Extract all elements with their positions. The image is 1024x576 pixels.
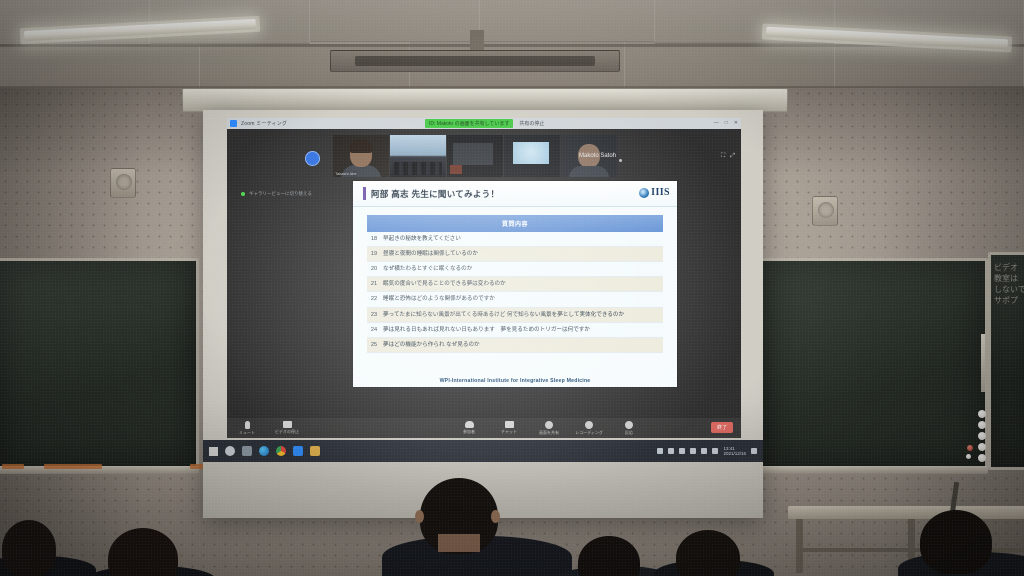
mail-icon[interactable] [712,448,718,454]
reactions-icon [625,421,633,429]
clock-date: 2021/12/16 [723,451,746,456]
board-eraser [981,334,985,392]
audience-head [2,520,56,576]
share-status-label: ID: Makoto の画面を共有しています [425,119,513,128]
zoom-window[interactable]: Zoom ミーティング — □ ✕ ID: Makoto の画面を共有しています… [227,118,741,418]
audience-neck [438,534,480,552]
view-status-label: ギャラリービューに切り替える [249,191,312,197]
table-header: 質問内容 [367,215,663,232]
zoom-logo-icon [230,120,237,127]
video-camera-icon [283,421,292,428]
title-accent-bar [363,187,366,200]
avatar [305,151,320,166]
question-table-body: 18早起きの秘訣を教えてください19昼寝と夜間の睡眠は関係しているのか20なぜ横… [367,232,663,352]
participant-tile[interactable] [504,135,560,177]
table-row: 22睡眠と恐怖はどのような関係があるのですか [367,292,663,307]
slide-title: 阿部 高志 先生に聞いてみよう！ [371,188,499,200]
toolbar-share-label: 画面を共有 [539,430,559,436]
toolbar-mute-button[interactable]: ミュート [227,421,267,436]
status-indicator-icon [241,192,245,196]
toolbar-participants-label: 参加者 [463,429,475,435]
row-question-text: 睡眠と恐怖はどのような関係があるのですか [383,292,663,307]
row-question-text: 夢はどの機能から作られ なぜ見るのか [383,337,663,352]
participant-name: Takashi Abe [335,171,357,176]
chalk-piece [44,464,102,469]
toolbar-chat-label: チャット [501,429,517,435]
participants-icon [465,421,474,428]
minimize-icon[interactable]: — [714,120,719,126]
microphone-icon [245,421,250,429]
magnet [978,454,986,462]
participant-tile[interactable]: Takashi Abe [333,135,389,177]
row-number: 25 [367,337,383,352]
zoom-content-area: Takashi Abe [227,129,741,418]
question-table: 質問内容 18早起きの秘訣を教えてください19昼寝と夜間の睡眠は関係しているのか… [367,215,663,353]
magnet [966,454,971,459]
participant-name-label: Makoto Satoh [579,153,616,159]
magnet [978,443,986,451]
ceiling [0,0,1024,92]
row-question-text: 早起きの秘訣を教えてください [383,232,663,247]
chat-icon [505,421,514,428]
lecture-hall-scene: ビデオ 教室は しないで サポプ Zoom ミーティング — □ ✕ ID: M… [0,0,1024,576]
windows-taskbar[interactable]: 13:41 2021/12/16 [203,440,763,462]
zoom-window-title: Zoom ミーティング [241,120,287,127]
projector-mount [330,50,620,72]
blackboard-left [0,258,199,470]
table-row: 23夢ってたまに知らない風景が出てくる時あるけど 何で知らない風景を夢として実体… [367,307,663,322]
task-view-icon[interactable] [242,446,252,456]
stop-share-button[interactable]: 共有の停止 [515,119,548,128]
projection-screen-case [182,88,788,112]
participant-tile[interactable] [447,135,503,177]
row-question-text: なぜ横たわるとすぐに眠くなるのか [383,262,663,277]
network-icon[interactable] [679,448,685,454]
end-meeting-button[interactable]: 終了 [711,422,733,433]
window-controls[interactable]: — □ ✕ [714,120,738,126]
maximize-icon[interactable]: □ [725,120,728,126]
caret-up-icon[interactable] [668,448,674,454]
view-status[interactable]: ギャラリービューに切り替える [241,191,312,197]
toolbar-participants-button[interactable]: 参加者 [449,421,489,435]
expand-icon[interactable]: ⤢ [730,153,735,160]
row-number: 20 [367,262,383,277]
wall-speaker-right [812,196,838,226]
row-number: 21 [367,277,383,292]
table-row: 18早起きの秘訣を教えてください [367,232,663,247]
row-number: 24 [367,322,383,337]
chalk-piece [190,464,204,469]
chrome-icon[interactable] [276,446,286,456]
toolbar-record-button[interactable]: レコーディング [569,421,609,436]
shared-slide: 阿部 高志 先生に聞いてみよう！ IIIS 質問内容 [353,181,677,387]
edge-icon[interactable] [259,446,269,456]
row-number: 22 [367,292,383,307]
folder-icon[interactable] [310,446,320,456]
row-question-text: 眠気の度合いで見ることのできる夢は変わるのか [383,277,663,292]
magnet [978,421,986,429]
table-row: 20なぜ横たわるとすぐに眠くなるのか [367,262,663,277]
battery-icon[interactable] [701,448,707,454]
slide-body: 質問内容 18早起きの秘訣を教えてください19昼寝と夜間の睡眠は関係しているのか… [353,207,677,353]
chalk-piece [2,464,24,469]
table-row: 25夢はどの機能から作られ なぜ見るのか [367,337,663,352]
row-number: 19 [367,247,383,262]
chalk-tray-right [760,466,988,474]
magnet [978,410,986,418]
iiis-mark-icon [639,188,649,198]
audience-head [920,510,992,574]
participant-tile[interactable] [390,135,446,177]
participant-status-dot [619,159,622,162]
table-row: 21眠気の度合いで見ることのできる夢は変わるのか [367,277,663,292]
share-screen-icon [545,421,553,429]
iiis-logo: IIIS [639,187,670,198]
fullscreen-icon[interactable]: ⛶ [721,153,725,160]
system-tray[interactable]: 13:41 2021/12/16 [657,446,757,456]
zoom-toolbar[interactable]: ミュート ビデオの停止 参加者 チャット 画面を共有 レコーディング [227,418,741,438]
slide-footer: WPI-International Institute for Integrat… [353,378,677,384]
row-question-text: 昼寝と夜間の睡眠は関係しているのか [383,247,663,262]
toolbar-chat-button[interactable]: チャット [489,421,529,435]
record-icon [585,421,593,429]
audience-ear [491,510,500,523]
row-number: 23 [367,307,383,322]
view-controls[interactable]: ⛶ ⤢ [721,153,735,160]
blackboard-center-right [760,258,988,470]
ime-icon[interactable] [690,448,696,454]
toolbar-video-label: ビデオの停止 [275,429,299,435]
row-number: 18 [367,232,383,247]
toolbar-record-label: レコーディング [575,430,603,436]
toolbar-reactions-button[interactable]: 反応 [609,421,649,436]
toolbar-reactions-label: 反応 [625,430,633,436]
audience-ear [415,510,424,523]
row-question-text: 夢は見れる日もあれば見れない日もあります 夢を見るためのトリガーは何ですか [383,322,663,337]
pen-icon[interactable] [657,448,663,454]
table-row: 24夢は見れる日もあれば見れない日もあります 夢を見るためのトリガーは何ですか [367,322,663,337]
row-question-text: 夢ってたまに知らない風景が出てくる時あるけど 何で知らない風景を夢として実体化で… [383,307,663,322]
participant-tile-strip: Takashi Abe [333,135,617,177]
search-icon[interactable] [225,446,235,456]
iiis-logo-text: IIIS [651,187,670,198]
toolbar-video-button[interactable]: ビデオの停止 [267,421,307,435]
screen-share-banner: ID: Makoto の画面を共有しています 共有の停止 [425,118,548,129]
close-icon[interactable]: ✕ [734,120,738,126]
zoom-icon[interactable] [293,446,303,456]
magnet-red [967,445,973,451]
toolbar-mute-label: ミュート [239,430,255,436]
magnet [978,432,986,440]
table-row: 19昼寝と夜間の睡眠は関係しているのか [367,247,663,262]
slide-header: 阿部 高志 先生に聞いてみよう！ IIIS [353,181,677,207]
wall-speaker-left [110,168,136,198]
blackboard-handwriting: ビデオ 教室は しないで サポプ [994,262,1024,306]
toolbar-share-button[interactable]: 画面を共有 [529,421,569,436]
projection-screen: Zoom ミーティング — □ ✕ ID: Makoto の画面を共有しています… [203,110,763,518]
notification-icon[interactable] [751,448,757,454]
start-icon[interactable] [209,447,218,456]
clock[interactable]: 13:41 2021/12/16 [723,446,746,456]
